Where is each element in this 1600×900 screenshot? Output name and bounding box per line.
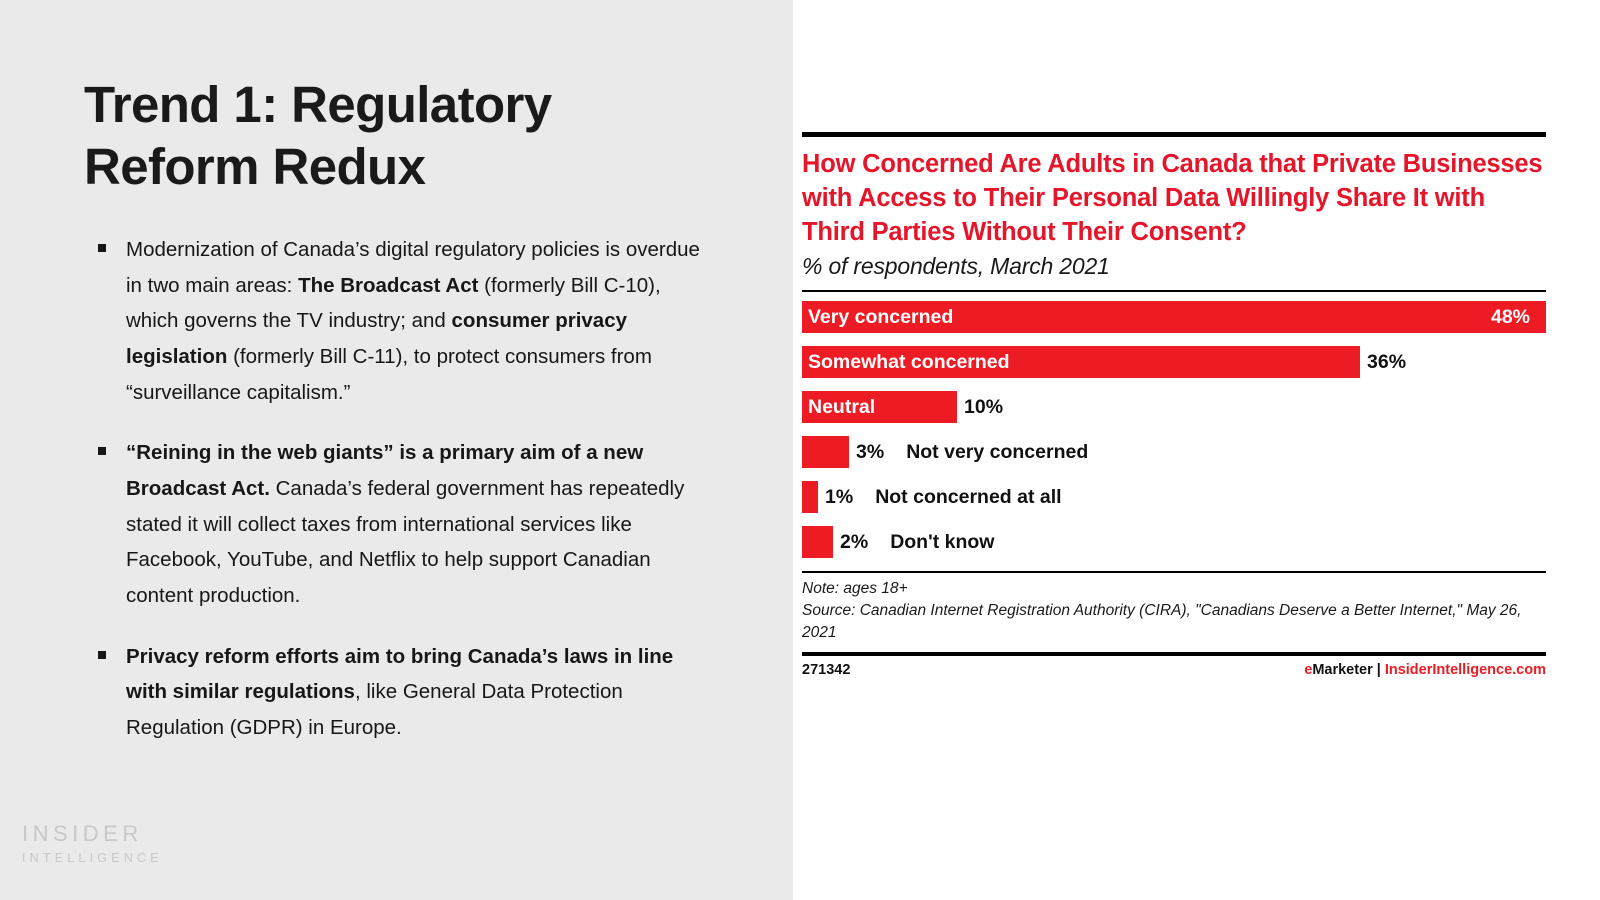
bullet-text-3: Privacy reform efforts aim to bring Cana…: [126, 645, 673, 739]
bar-value-label: 3%: [856, 441, 884, 464]
logo-line-2: INTELLIGENCE: [22, 851, 163, 865]
bullet-text-1: Modernization of Canada’s digital regula…: [126, 238, 700, 404]
bar-category-label: Not concerned at all: [875, 486, 1061, 509]
chart-panel: How Concerned Are Adults in Canada that …: [793, 0, 1600, 900]
bar-category-label: Don't know: [890, 531, 994, 554]
bar-row: 3%Not very concerned: [802, 436, 1546, 468]
bar-value-label: 2%: [840, 531, 868, 554]
bar-row: Neutral10%: [802, 391, 1546, 423]
bar-category-label: Very concerned: [802, 306, 953, 329]
bar-value-label: 48%: [1491, 306, 1538, 329]
chart-notes-rule: [802, 571, 1546, 573]
bar-value-label: 1%: [825, 486, 853, 509]
bullet-list: Modernization of Canada’s digital regula…: [96, 232, 710, 771]
bar-row: 1%Not concerned at all: [802, 481, 1546, 513]
chart-id: 271342: [802, 662, 850, 678]
bar: Neutral: [802, 391, 957, 423]
bar-value-label: 36%: [1367, 351, 1406, 374]
bullet-text-2: “Reining in the web giants” is a primary…: [126, 441, 684, 607]
bar: [802, 436, 849, 468]
logo-line-1: INSIDER: [22, 822, 163, 846]
brand-site-link[interactable]: InsiderIntelligence.com: [1385, 662, 1546, 678]
chart-notes: Note: ages 18+ Source: Canadian Internet…: [802, 578, 1546, 644]
list-item: Privacy reform efforts aim to bring Cana…: [96, 639, 710, 746]
list-item: “Reining in the web giants” is a primary…: [96, 435, 710, 613]
chart-header-rule: [802, 290, 1546, 292]
bar-category-label: Somewhat concerned: [802, 351, 1010, 374]
brand-separator: |: [1373, 662, 1385, 678]
emarketer-chart: How Concerned Are Adults in Canada that …: [802, 132, 1546, 678]
chart-top-rule: [802, 132, 1546, 137]
page-title: Trend 1: Regulatory Reform Redux: [84, 74, 694, 198]
insider-intelligence-logo: INSIDER INTELLIGENCE: [22, 822, 163, 865]
bar: [802, 526, 833, 558]
bullet-square-icon: [98, 651, 106, 659]
bar: Very concerned48%: [802, 301, 1546, 333]
list-item: Modernization of Canada’s digital regula…: [96, 232, 710, 410]
bullet-bold-run: The Broadcast Act: [298, 274, 478, 297]
bullet-square-icon: [98, 244, 106, 252]
chart-source: Source: Canadian Internet Registration A…: [802, 600, 1546, 644]
bar-row: Somewhat concerned36%: [802, 346, 1546, 378]
brand-name: Marketer: [1312, 662, 1372, 678]
chart-footer: 271342 eMarketer|InsiderIntelligence.com: [802, 662, 1546, 678]
chart-note: Note: ages 18+: [802, 578, 1546, 600]
slide: Trend 1: Regulatory Reform Redux Moderni…: [0, 0, 1600, 900]
bullet-square-icon: [98, 447, 106, 455]
bar-value-label: 10%: [964, 396, 1003, 419]
bar-category-label: Not very concerned: [906, 441, 1088, 464]
chart-bottom-rule: [802, 652, 1546, 656]
bar: [802, 481, 818, 513]
bar-row: 2%Don't know: [802, 526, 1546, 558]
bar: Somewhat concerned: [802, 346, 1360, 378]
brand-attribution: eMarketer|InsiderIntelligence.com: [1304, 662, 1546, 678]
chart-title: How Concerned Are Adults in Canada that …: [802, 147, 1546, 249]
bar-row: Very concerned48%: [802, 301, 1546, 333]
bar-category-label: Neutral: [802, 396, 875, 419]
chart-subtitle: % of respondents, March 2021: [802, 253, 1546, 280]
left-content-panel: Trend 1: Regulatory Reform Redux Moderni…: [0, 0, 793, 900]
bar-chart-plot: Very concerned48%Somewhat concerned36%Ne…: [802, 301, 1546, 558]
